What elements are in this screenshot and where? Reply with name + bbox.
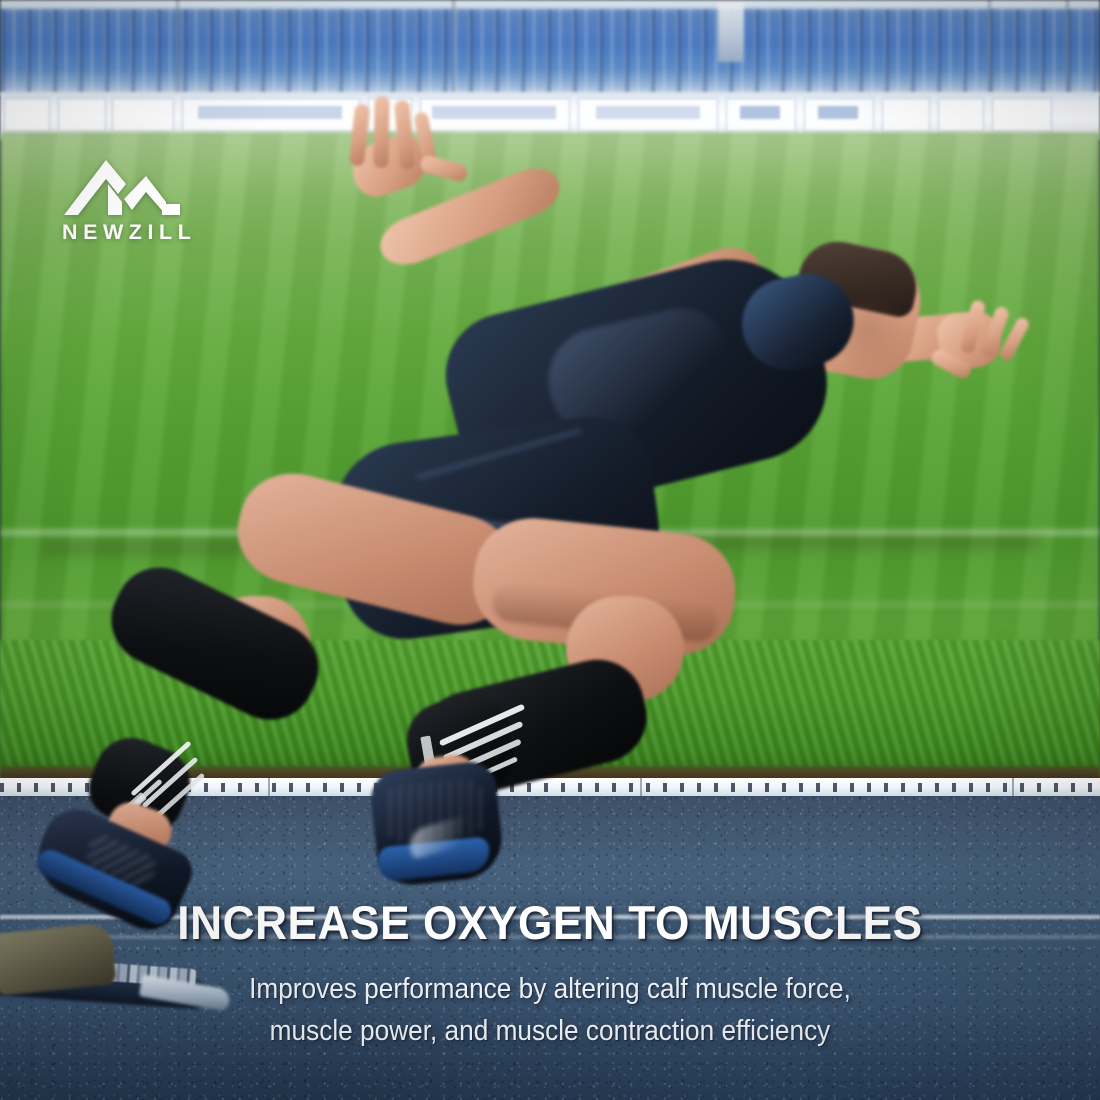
lead-finger <box>373 96 389 168</box>
subheadline-line-1: Improves performance by altering calf mu… <box>81 969 1019 1010</box>
headline: INCREASE OXYGEN TO MUSCLES <box>71 899 1030 948</box>
marketing-copy: INCREASE OXYGEN TO MUSCLES Improves perf… <box>0 899 1100 1053</box>
front-shoe-ribs <box>379 777 488 846</box>
lead-thumb <box>419 154 470 184</box>
brand-wordmark: NEWZILL <box>62 222 205 243</box>
subheadline-line-2: muscle power, and muscle contraction eff… <box>81 1011 1019 1052</box>
product-banner: NEWZILL INCREASE OXYGEN TO MUSCLES Impro… <box>0 0 1100 1100</box>
subheadline: Improves performance by altering calf mu… <box>81 969 1019 1052</box>
mountain-peaks-icon <box>62 158 184 220</box>
brand-logo: NEWZILL <box>62 158 202 243</box>
